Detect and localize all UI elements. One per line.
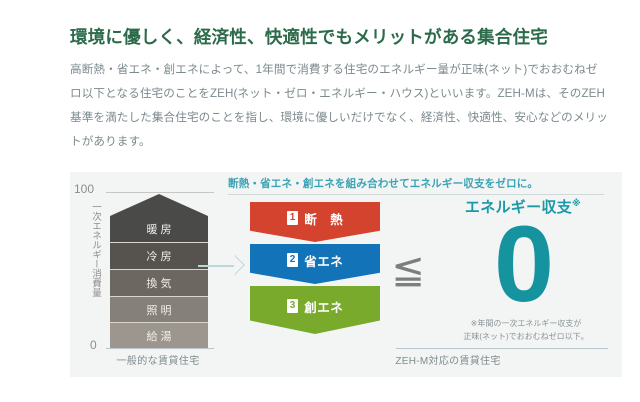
bar-segment-hotwater-label: 給湯 xyxy=(147,328,175,344)
energy-balance-value: 0 xyxy=(428,210,618,318)
measure-step-energy-saving: 2 省エネ xyxy=(250,244,380,284)
bar-segment-ventilation-label: 換気 xyxy=(147,275,175,291)
bar-segment-lighting-label: 照明 xyxy=(147,302,175,318)
bar-segment-heating-label: 暖房 xyxy=(147,221,175,237)
page-title: 環境に優しく、経済性、快適性でもメリットがある集合住宅 xyxy=(70,24,610,49)
less-than-equal-icon: ≦ xyxy=(388,240,428,300)
measure-step-energy-creation: 3 創エネ xyxy=(250,286,380,334)
step-label-energy-creation: 創エネ xyxy=(304,297,343,316)
bar-segment-lighting: 照明 xyxy=(110,297,208,323)
footnote-mark: ※ xyxy=(572,198,581,208)
step-number-3: 3 xyxy=(287,299,299,313)
step-label-insulation: 断 熱 xyxy=(304,209,343,228)
energy-diagram-panel: 100 0 一次エネルギー消費量 暖房 冷房 換気 照明 給湯 一般的な賃貸住宅… xyxy=(70,172,622,377)
step-label-energy-saving: 省エネ xyxy=(304,251,343,270)
bar-segment-cooling-label: 冷房 xyxy=(147,248,175,264)
axis-tick-top: 100 xyxy=(74,182,94,196)
axis-rule-bottom xyxy=(106,348,214,349)
house-roof-shape xyxy=(110,194,208,216)
energy-balance-note-line1: ※年間の一次エネルギー収支が xyxy=(428,318,624,331)
energy-balance-note: ※年間の一次エネルギー収支が 正味(ネット)でおおむねゼロ以下。 xyxy=(428,318,624,344)
left-caption: 一般的な賃貸住宅 xyxy=(88,352,228,367)
bar-segment-heating: 暖房 xyxy=(110,216,208,243)
step-number-1: 1 xyxy=(287,211,299,225)
measure-step-insulation: 1 断 熱 xyxy=(250,202,380,242)
axis-rule-top xyxy=(106,192,214,193)
house-bar-stack: 暖房 冷房 換気 照明 給湯 xyxy=(110,194,208,348)
bar-segment-cooling: 冷房 xyxy=(110,243,208,270)
bar-segment-hotwater: 給湯 xyxy=(110,323,208,348)
axis-tick-bottom: 0 xyxy=(90,338,97,352)
energy-balance-note-line2: 正味(ネット)でおおむねゼロ以下。 xyxy=(428,331,624,344)
baseline-bar-chart: 100 0 一次エネルギー消費量 暖房 冷房 換気 照明 給湯 一般的な賃貸住宅 xyxy=(70,172,230,377)
energy-balance-result: ≦ エネルギー収支※ 0 ※年間の一次エネルギー収支が 正味(ネット)でおおむね… xyxy=(388,172,622,377)
y-axis-label: 一次エネルギー消費量 xyxy=(87,202,101,297)
bar-segment-ventilation: 換気 xyxy=(110,270,208,297)
page-root: 環境に優しく、経済性、快適性でもメリットがある集合住宅 高断熱・省エネ・創エネに… xyxy=(0,0,640,402)
step-number-2: 2 xyxy=(287,253,299,267)
body-paragraph: 高断熱・省エネ・創エネによって、1年間で消費する住宅のエネルギー量が正味(ネット… xyxy=(70,58,608,154)
